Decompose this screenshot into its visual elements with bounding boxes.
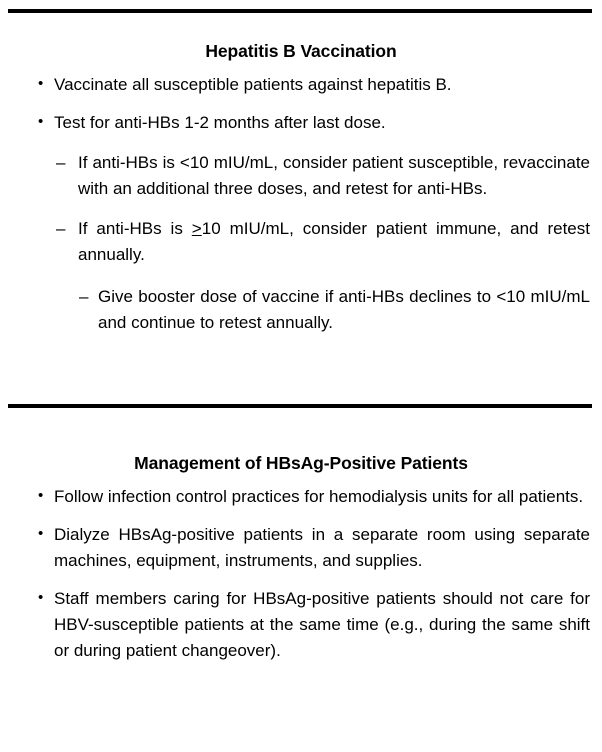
list-item-text-before: If anti-HBs is bbox=[78, 219, 192, 238]
list-item: • Follow infection control practices for… bbox=[0, 484, 602, 510]
top-horizontal-rule bbox=[8, 9, 592, 13]
dash-marker-icon: – bbox=[56, 216, 65, 242]
list-item: • Staff members caring for HBsAg-positiv… bbox=[0, 586, 602, 664]
section-management-hbsag-positive-patients: Management of HBsAg-Positive Patients • … bbox=[0, 452, 602, 664]
list-item-text: Staff members caring for HBsAg-positive … bbox=[54, 589, 590, 660]
list-item-text: Test for anti-HBs 1-2 months after last … bbox=[54, 113, 386, 132]
list-item-text: Dialyze HBsAg-positive patients in a sep… bbox=[54, 525, 590, 570]
list-item: • Test for anti-HBs 1-2 months after las… bbox=[0, 110, 602, 136]
greater-than-or-equal-symbol: > bbox=[192, 219, 202, 238]
section-divider-rule bbox=[8, 404, 592, 408]
bullet-round-icon: • bbox=[38, 484, 43, 508]
list-item-text: Give booster dose of vaccine if anti-HBs… bbox=[98, 287, 590, 332]
section-one-heading: Hepatitis B Vaccination bbox=[0, 40, 602, 62]
list-item-text: If anti-HBs is <10 mIU/mL, consider pati… bbox=[78, 153, 590, 198]
list-item-text: Follow infection control practices for h… bbox=[54, 487, 583, 506]
list-item-text: Vaccinate all susceptible patients again… bbox=[54, 75, 452, 94]
list-item: – If anti-HBs is <10 mIU/mL, consider pa… bbox=[0, 150, 602, 202]
section-hepatitis-b-vaccination: Hepatitis B Vaccination • Vaccinate all … bbox=[0, 40, 602, 336]
dash-marker-icon: – bbox=[79, 284, 88, 310]
list-item: • Vaccinate all susceptible patients aga… bbox=[0, 72, 602, 98]
bullet-round-icon: • bbox=[38, 72, 43, 96]
bullet-round-icon: • bbox=[38, 586, 43, 610]
list-item: • Dialyze HBsAg-positive patients in a s… bbox=[0, 522, 602, 574]
dash-marker-icon: – bbox=[56, 150, 65, 176]
section-two-bullet-list: • Follow infection control practices for… bbox=[0, 484, 602, 664]
bullet-round-icon: • bbox=[38, 110, 43, 134]
document-page: Hepatitis B Vaccination • Vaccinate all … bbox=[0, 0, 602, 752]
section-one-bullet-list: • Vaccinate all susceptible patients aga… bbox=[0, 72, 602, 336]
section-two-heading: Management of HBsAg-Positive Patients bbox=[0, 452, 602, 474]
list-item: – Give booster dose of vaccine if anti-H… bbox=[0, 284, 602, 336]
bullet-round-icon: • bbox=[38, 522, 43, 546]
list-item: – If anti-HBs is >10 mIU/mL, consider pa… bbox=[0, 216, 602, 268]
